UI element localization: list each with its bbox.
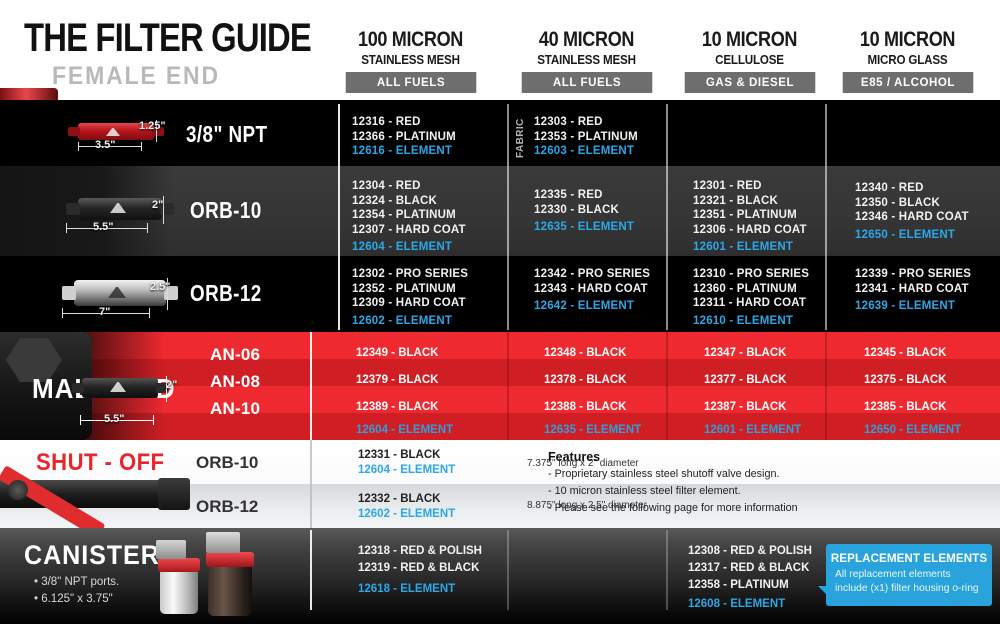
row-label-orb10: ORB-10 [190,197,262,224]
part-number-element: 12610 - ELEMENT [693,314,809,329]
an-size-label: AN-08 [210,372,260,392]
part-number: 12350 - BLACK [855,196,969,211]
part-number: 12321 - BLACK [693,194,807,209]
dimension-diameter-label: 2" [152,199,163,211]
part-number: 12346 - HARD COAT [855,210,969,225]
dimension-length-label: 5.5" [104,413,125,425]
part-number: 12349 - BLACK [356,347,438,359]
column-divider [507,332,509,440]
part-number-element: 12635 - ELEMENT [534,220,634,235]
part-number: 12342 - PRO SERIES [534,267,650,282]
dimension-diameter-label: 2.5" [150,281,171,293]
female-end-table: 3.5" 1.25" 3/8" NPT 12316 - RED 12366 - … [0,100,1000,332]
shutoff-valve-photo-end [158,478,190,510]
row-label-orb12: ORB-12 [190,280,262,307]
column-media-label: STAINLESS MESH [510,53,663,67]
column-divider [310,440,312,528]
column-divider [310,332,312,440]
callout-body: All replacement elements include (x1) fi… [826,565,992,595]
dimension-tick-right [149,308,150,318]
part-number: 12309 - HARD COAT [352,296,468,311]
canister-photo-polish [160,569,198,614]
part-number-element: 12616 - ELEMENT [352,144,456,159]
part-number-element: 12635 - ELEMENT [544,424,641,436]
canister-photo-black [208,564,252,616]
part-number: 12358 - PLATINUM [688,579,789,591]
dimension-length-label: 5.5" [93,221,114,233]
an-size-label: AN-06 [210,345,260,365]
table-row: 5.5" 2" ORB-10 12304 - RED 12324 - BLACK… [0,166,1000,256]
part-number: 12366 - PLATINUM [352,130,456,145]
part-number: 12324 - BLACK [352,194,493,209]
part-number-element: 12650 - ELEMENT [864,424,961,436]
part-number-element: 12601 - ELEMENT [704,424,801,436]
an-size-label: AN-10 [210,399,260,419]
part-number-element: 12601 - ELEMENT [693,240,807,255]
part-number: 12319 - RED & BLACK [358,562,479,574]
column-media-label: MICRO GLASS [831,53,984,67]
part-number: 12332 - BLACK [358,493,440,505]
part-number: 12306 - HARD COAT [693,223,807,238]
cell-100micron-npt: 12316 - RED 12366 - PLATINUM 12616 - ELE… [352,115,456,159]
dimension-diameter-label: 1.25" [139,120,166,132]
part-number: 12378 - BLACK [544,374,626,386]
features-title: Features [548,450,600,464]
column-fuel-chip: GAS & DIESEL [684,72,815,93]
filter-photo-npt-left-port [68,127,80,136]
canister-photo-polish-bracket [156,540,186,559]
features-item: - Proprietary stainless steel shutoff va… [548,468,779,480]
cell-10micron-microglass-orb10: 12340 - RED 12350 - BLACK 12346 - HARD C… [855,181,969,242]
filter-guide-page: THE FILTER GUIDE FEMALE END 100 MICRON S… [0,0,1000,624]
column-divider [666,530,668,610]
shut-off-size-label: ORB-10 [196,453,258,473]
table-row: 7" 2.5" ORB-12 12302 - PRO SERIES 12352 … [0,256,1000,332]
canister-photo-black-cap [206,552,254,567]
part-number-element: 12602 - ELEMENT [358,508,455,520]
page-subtitle: FEMALE END [52,62,220,91]
part-number: 12347 - BLACK [704,347,786,359]
cell-40micron-npt: 12303 - RED 12353 - PLATINUM 12603 - ELE… [534,115,638,159]
shut-off-size-label: ORB-12 [196,497,258,517]
column-micron-label: 40 MICRON [516,28,658,52]
part-number-element: 12602 - ELEMENT [352,314,468,329]
column-micron-label: 10 MICRON [837,28,979,52]
cell-10micron-cellulose-orb12: 12310 - PRO SERIES 12360 - PLATINUM 1231… [693,267,809,328]
part-number: 12389 - BLACK [356,401,438,413]
part-number: 12303 - RED [534,115,638,130]
part-number: 12339 - PRO SERIES [855,267,971,282]
cell-10micron-cellulose-orb10: 12301 - RED 12321 - BLACK 12351 - PLATIN… [693,179,807,255]
canister-title: CANISTER [24,540,160,571]
dimension-diameter-label: 2" [166,379,177,391]
part-number: 12388 - BLACK [544,401,626,413]
table-row: 3.5" 1.25" 3/8" NPT 12316 - RED 12366 - … [0,100,1000,166]
column-micron-label: 100 MICRON [340,28,482,52]
column-divider [825,332,827,440]
dimension-length-label: 7" [99,306,110,318]
part-number: 12316 - RED [352,115,456,130]
part-number-element: 12604 - ELEMENT [358,464,455,476]
part-number: 12353 - PLATINUM [534,130,638,145]
column-fuel-chip: ALL FUELS [521,72,652,93]
part-number-element: 12608 - ELEMENT [688,598,785,610]
cell-10micron-microglass-orb12: 12339 - PRO SERIES 12341 - HARD COAT 126… [855,267,971,314]
part-number: 12301 - RED [693,179,807,194]
column-divider [310,530,312,610]
column-divider [338,104,340,330]
part-number: 12331 - BLACK [358,449,440,461]
part-number: 12304 - RED [352,179,493,194]
column-divider [825,104,827,330]
canister-bullet: • 6.125" x 3.75" [34,593,113,605]
part-number: 12379 - BLACK [356,374,438,386]
features-item: - 10 micron stainless steel filter eleme… [548,485,741,497]
row-label-npt: 3/8" NPT [186,121,267,148]
part-number: 12354 - PLATINUM [352,208,493,223]
fabric-tag: FABRIC [515,114,526,158]
part-number: 12340 - RED [855,181,969,196]
column-divider [507,530,509,610]
part-number: 12310 - PRO SERIES [693,267,809,282]
dimension-tick-right [153,415,154,425]
part-number: 12330 - BLACK [534,203,634,218]
part-number: 12307 - HARD COAT [352,223,493,238]
part-number: 12302 - PRO SERIES [352,267,468,282]
page-header: THE FILTER GUIDE FEMALE END 100 MICRON S… [0,0,1000,100]
column-media-label: STAINLESS MESH [334,53,487,67]
dimension-tick-right [141,142,142,151]
shut-off-title: SHUT - OFF [36,449,164,477]
column-media-label: CELLULOSE [673,53,826,67]
part-number-element: 12650 - ELEMENT [855,228,969,243]
part-number-element: 12642 - ELEMENT [534,299,650,314]
part-number: 12385 - BLACK [864,401,946,413]
column-fuel-chip: E85 / ALCOHOL [842,72,973,93]
shutoff-valve-pivot [8,480,28,500]
features-item: - Please see the following page for more… [548,502,798,514]
part-number: 12343 - HARD COAT [534,282,650,297]
part-number: 12318 - RED & POLISH [358,545,482,557]
page-title: THE FILTER GUIDE [24,16,311,61]
dimension-tick-left [80,415,81,425]
cell-40micron-orb12: 12342 - PRO SERIES 12343 - HARD COAT 126… [534,267,650,314]
column-header-100-micron: 100 MICRON STAINLESS MESH ALL FUELS [328,28,493,93]
dimension-tick-left [66,223,67,233]
column-divider [666,104,668,330]
part-number: 12341 - HARD COAT [855,282,971,297]
dimension-tick-left [78,142,79,151]
replacement-elements-callout: REPLACEMENT ELEMENTS All replacement ele… [826,544,992,606]
column-micron-label: 10 MICRON [679,28,821,52]
column-fuel-chip: ALL FUELS [345,72,476,93]
cell-100micron-orb12: 12302 - PRO SERIES 12352 - PLATINUM 1230… [352,267,468,328]
part-number: 12335 - RED [534,188,634,203]
column-divider [666,332,668,440]
part-number: 12360 - PLATINUM [693,282,809,297]
column-header-10-micron-cellulose: 10 MICRON CELLULOSE GAS & DIESEL [667,28,832,93]
shut-off-section: SHUT - OFF ORB-10 ORB-12 12331 - BLACK 1… [0,440,1000,528]
cell-40micron-orb10: 12335 - RED 12330 - BLACK 12635 - ELEMEN… [534,188,634,235]
part-number: 12352 - PLATINUM [352,282,468,297]
part-number: 12387 - BLACK [704,401,786,413]
part-number-element: 12604 - ELEMENT [356,424,453,436]
column-header-10-micron-microglass: 10 MICRON MICRO GLASS E85 / ALCOHOL [825,28,990,93]
callout-title: REPLACEMENT ELEMENTS [830,544,988,565]
filter-photo-male-left-port [72,383,84,393]
part-number: 12308 - RED & POLISH [688,545,812,557]
canister-photo-polish-cap [158,558,200,572]
dimension-tick-right [147,223,148,233]
part-number-element: 12603 - ELEMENT [534,144,638,159]
canister-photo-black-bracket [206,532,240,553]
part-number-element: 12618 - ELEMENT [358,583,455,595]
part-number-element: 12604 - ELEMENT [352,240,493,255]
part-number: 12345 - BLACK [864,347,946,359]
part-number: 12317 - RED & BLACK [688,562,809,574]
part-number: 12348 - BLACK [544,347,626,359]
filter-photo-orb12-left-port [62,286,76,300]
dimension-length-label: 3.5" [95,139,116,151]
male-end-section: MALE END 5.5" 2" AN-06 AN-08 AN-10 12349… [0,332,1000,440]
column-divider [507,104,509,330]
part-number: 12311 - HARD COAT [693,296,809,311]
part-number: 12351 - PLATINUM [693,208,807,223]
filter-photo-orb10-left-port [66,203,80,215]
canister-bullet: • 3/8" NPT ports. [34,576,119,588]
part-number: 12375 - BLACK [864,374,946,386]
part-number-element: 12639 - ELEMENT [855,299,971,314]
part-number: 12377 - BLACK [704,374,786,386]
dimension-tick-left [62,308,63,318]
column-header-40-micron: 40 MICRON STAINLESS MESH ALL FUELS [504,28,669,93]
